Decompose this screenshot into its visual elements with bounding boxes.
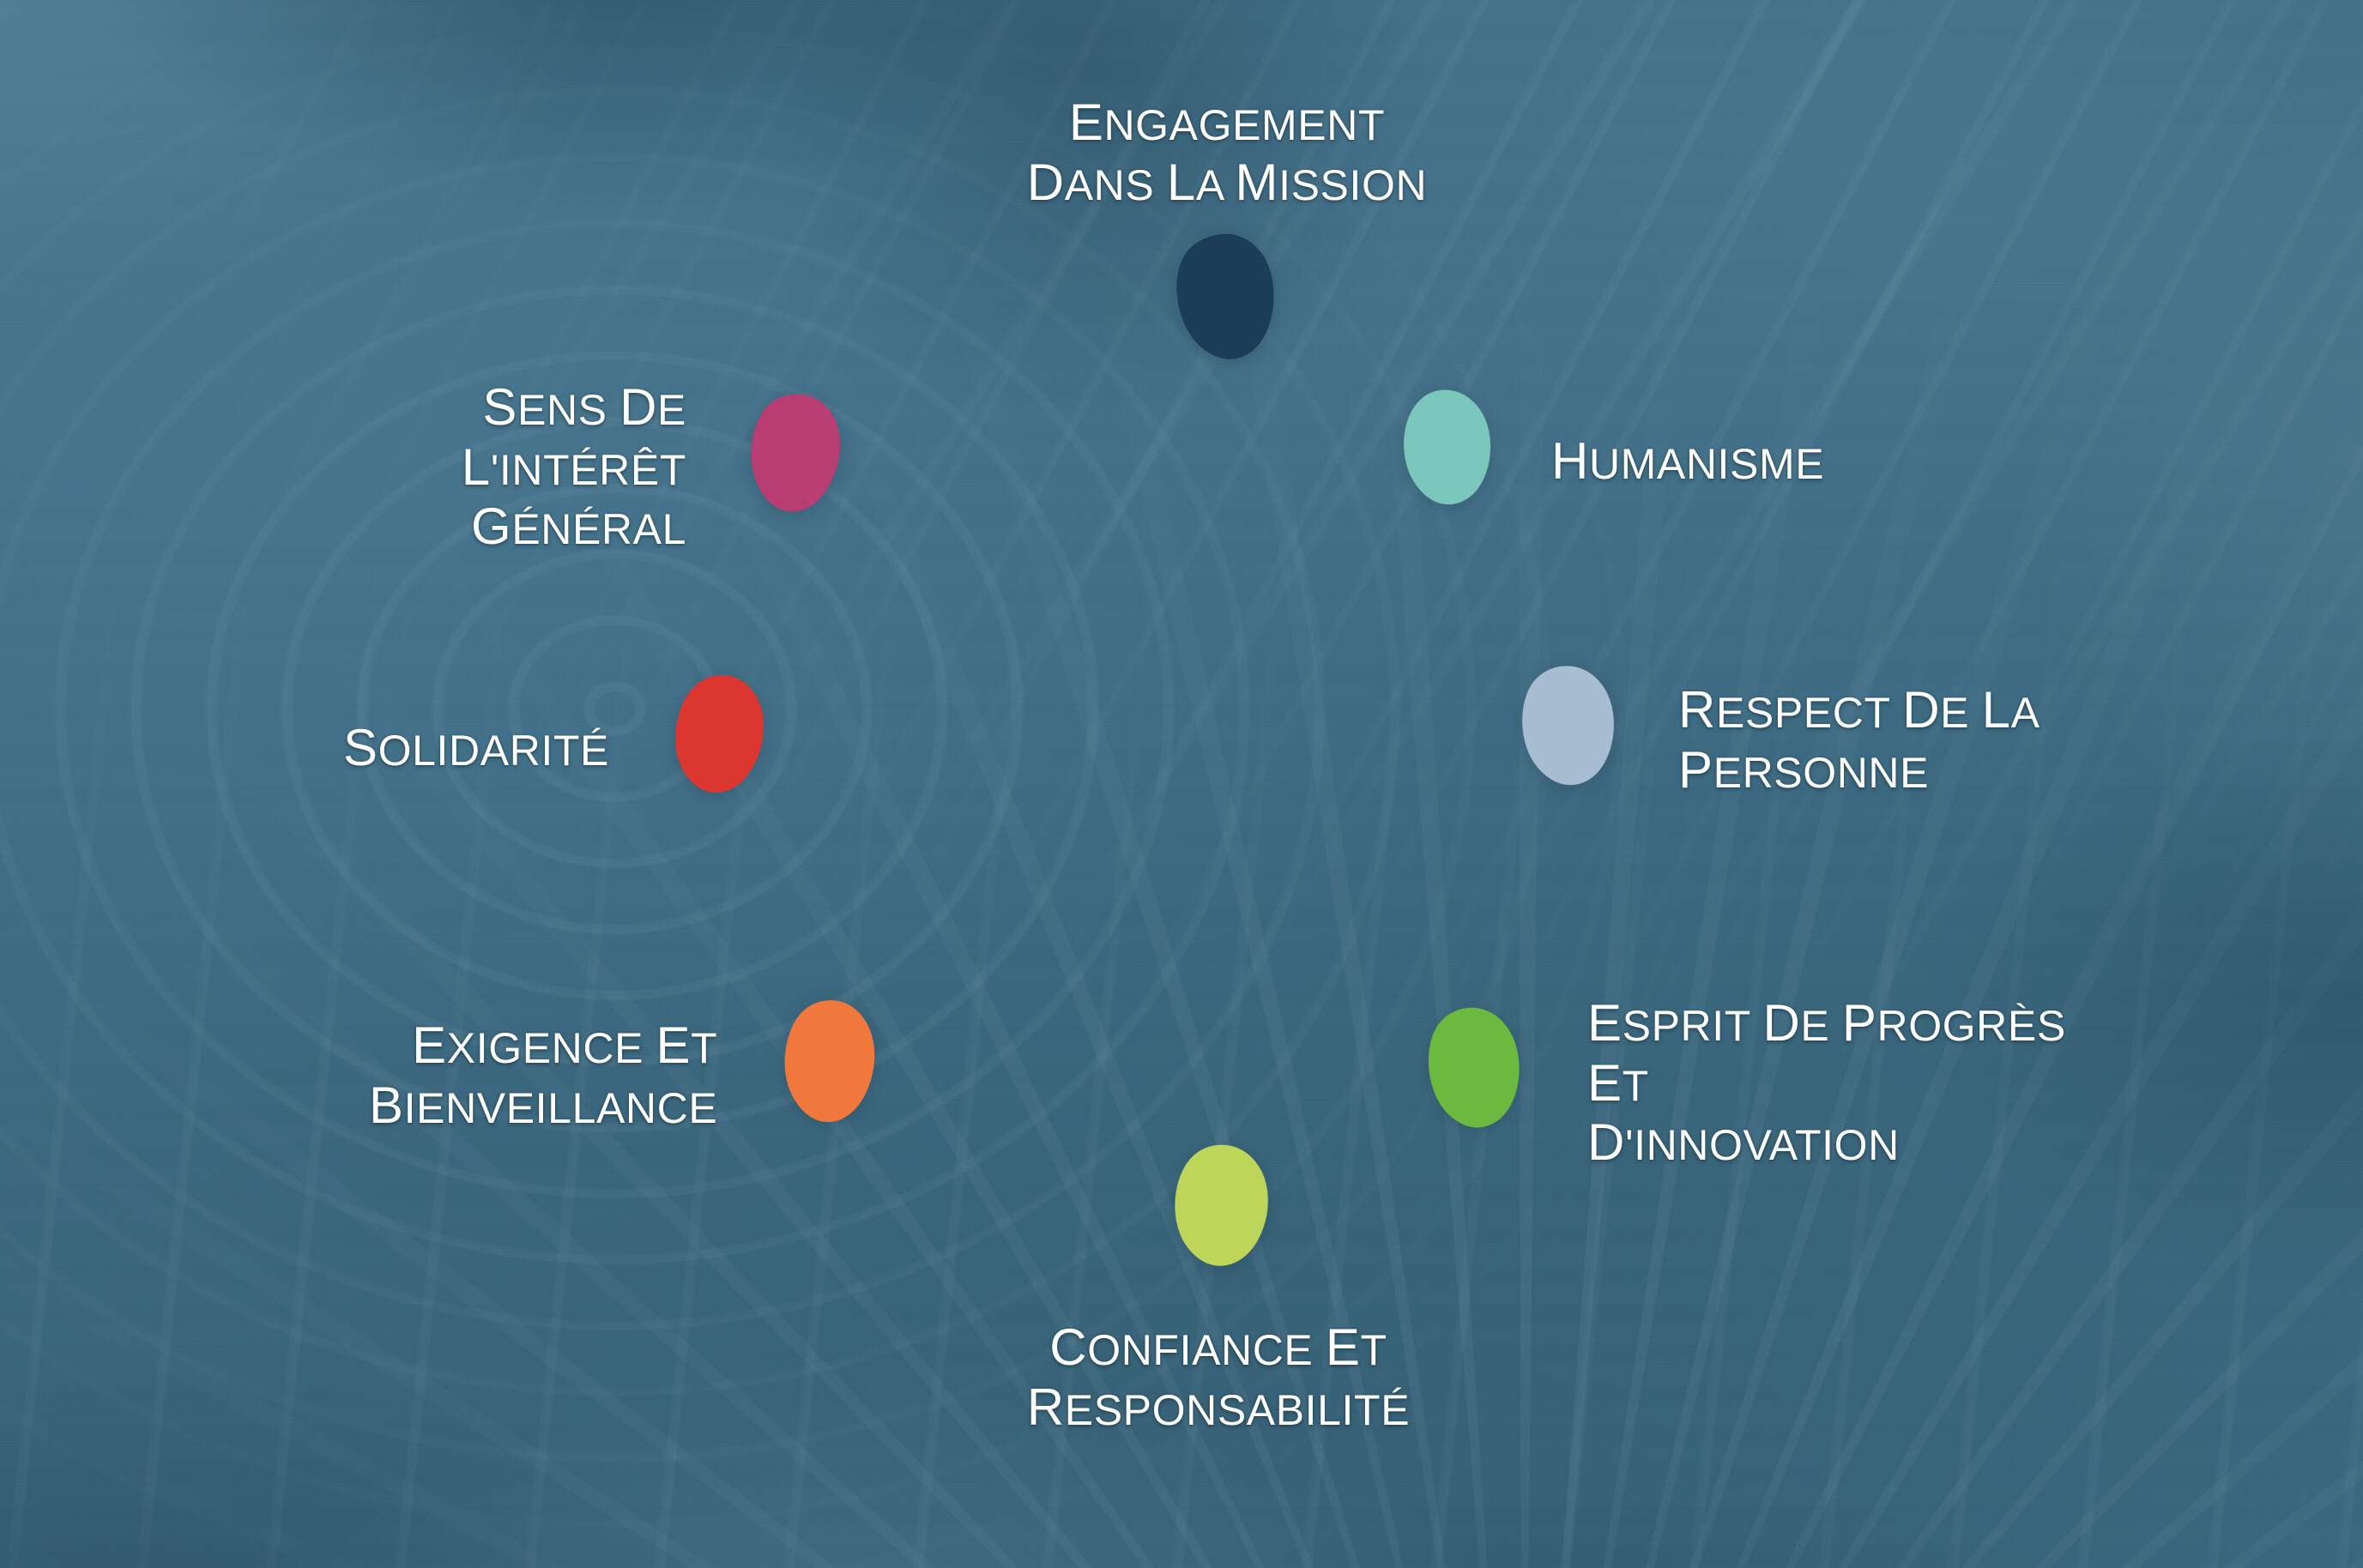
label-initial: E <box>412 1016 447 1074</box>
label-smallcaps: ROGRÈS <box>1876 1002 2065 1050</box>
value-item-confiance-responsabilite[interactable]: CONFIANCE ETRESPONSABILITÉ <box>952 1141 1484 1437</box>
label-initial: D <box>619 378 657 436</box>
label-smallcaps: T <box>1623 1062 1649 1110</box>
label-smallcaps: IENVEILLANCE <box>404 1084 718 1132</box>
value-label-sens-interet-general: SENS DE L'INTÉRÊTGÉNÉRAL <box>335 377 686 557</box>
value-label-solidarite: SOLIDARITÉ <box>335 718 609 778</box>
label-initial: S <box>343 719 378 776</box>
label-smallcaps: SPRIT <box>1623 1002 1750 1050</box>
label-smallcaps: UMANISME <box>1589 440 1824 488</box>
dot-engagement-icon <box>1142 223 1312 398</box>
label-smallcaps: T <box>691 1024 717 1072</box>
label-initial: E <box>1587 994 1623 1052</box>
value-label-engagement: ENGAGEMENTDANS LA MISSION <box>1027 93 1427 212</box>
label-smallcaps: E <box>1940 689 1969 737</box>
label-smallcaps: ESPONSABILITÉ <box>1065 1386 1410 1434</box>
label-smallcaps: ONFIANCE <box>1087 1326 1313 1374</box>
value-item-humanisme[interactable]: HUMANISME <box>1373 386 2008 537</box>
value-label-exigence-bienveillance: EXIGENCE ETBIENVEILLANCE <box>369 1016 717 1135</box>
dot-sens-interet-general[interactable] <box>719 390 867 543</box>
label-smallcaps: NGAGEMENT <box>1103 101 1385 149</box>
value-item-exigence-bienveillance[interactable]: EXIGENCE ETBIENVEILLANCE <box>369 997 892 1155</box>
label-smallcaps: ENS <box>517 386 607 434</box>
dot-exigence-bienveillance-icon <box>747 992 906 1160</box>
label-initial: L <box>1167 154 1196 211</box>
value-label-confiance-responsabilite: CONFIANCE ETRESPONSABILITÉ <box>1027 1318 1410 1437</box>
value-item-engagement[interactable]: ENGAGEMENTDANS LA MISSION <box>961 93 1493 390</box>
value-item-respect-personne[interactable]: RESPECT DE LAPERSONNE <box>1493 662 2154 818</box>
label-smallcaps: A <box>2011 689 2040 737</box>
dot-esprit-progres-innovation[interactable] <box>1399 1004 1550 1161</box>
dot-sens-interet-general-icon <box>714 384 871 549</box>
label-initial: P <box>1842 994 1877 1052</box>
label-initial: S <box>482 378 517 436</box>
label-initial: D <box>1587 1113 1625 1171</box>
label-initial: L <box>1982 681 2011 739</box>
label-initial: H <box>1551 432 1589 490</box>
value-item-sens-interet-general[interactable]: SENS DE L'INTÉRÊTGÉNÉRAL <box>335 377 867 557</box>
label-initial: D <box>1762 994 1800 1052</box>
value-label-respect-personne: RESPECT DE LAPERSONNE <box>1678 680 2154 799</box>
value-item-esprit-progres-innovation[interactable]: ESPRIT DE PROGRÈS ETD'INNOVATION <box>1399 993 2111 1173</box>
label-initial: E <box>1587 1054 1623 1112</box>
value-label-humanisme: HUMANISME <box>1551 431 2008 492</box>
dot-humanisme-icon <box>1368 383 1522 541</box>
label-initial: R <box>1678 681 1716 739</box>
label-initial: D <box>1902 681 1940 739</box>
label-smallcaps: E <box>657 386 686 434</box>
label-smallcaps: 'INNOVATION <box>1625 1121 1900 1169</box>
label-initial: P <box>1678 741 1713 799</box>
dot-confiance-responsabilite-icon <box>1138 1137 1300 1302</box>
dot-exigence-bienveillance[interactable] <box>750 997 903 1155</box>
label-smallcaps: OLIDARITÉ <box>378 727 609 775</box>
label-initial: D <box>1027 154 1065 211</box>
label-smallcaps: ISSION <box>1278 161 1427 209</box>
label-initial: E <box>1069 93 1104 151</box>
label-smallcaps: T <box>1361 1326 1387 1374</box>
value-item-solidarite[interactable]: SOLIDARITÉ <box>335 671 789 825</box>
label-initial: G <box>471 498 511 555</box>
label-initial: E <box>656 1016 692 1074</box>
label-smallcaps: 'INTÉRÊT <box>491 446 686 494</box>
label-initial: C <box>1049 1318 1087 1376</box>
dot-engagement[interactable] <box>1150 231 1304 390</box>
label-smallcaps: ERSONNE <box>1713 749 1929 797</box>
dot-confiance-responsabilite[interactable] <box>1143 1141 1294 1299</box>
label-initial: M <box>1236 154 1279 211</box>
dot-humanisme[interactable] <box>1373 386 1517 537</box>
label-initial: R <box>1027 1378 1065 1436</box>
value-label-esprit-progres-innovation: ESPRIT DE PROGRÈS ETD'INNOVATION <box>1587 993 2111 1173</box>
dot-solidarite[interactable] <box>642 671 789 825</box>
dot-respect-personne[interactable] <box>1493 662 1644 818</box>
label-smallcaps: A <box>1196 161 1223 209</box>
label-initial: E <box>1326 1318 1361 1376</box>
dot-respect-personne-icon <box>1486 656 1652 825</box>
label-smallcaps: XIGENCE <box>447 1024 644 1072</box>
label-initial: B <box>369 1076 404 1134</box>
dot-solidarite-icon <box>634 662 798 833</box>
label-smallcaps: ANS <box>1065 161 1155 209</box>
label-smallcaps: E <box>1800 1002 1829 1050</box>
label-smallcaps: ÉNÉRAL <box>511 505 686 553</box>
label-smallcaps: ESPECT <box>1716 689 1890 737</box>
values-poster: ENGAGEMENTDANS LA MISSION SENS DE L'INTÉ… <box>0 0 2363 1568</box>
label-initial: L <box>462 438 491 496</box>
